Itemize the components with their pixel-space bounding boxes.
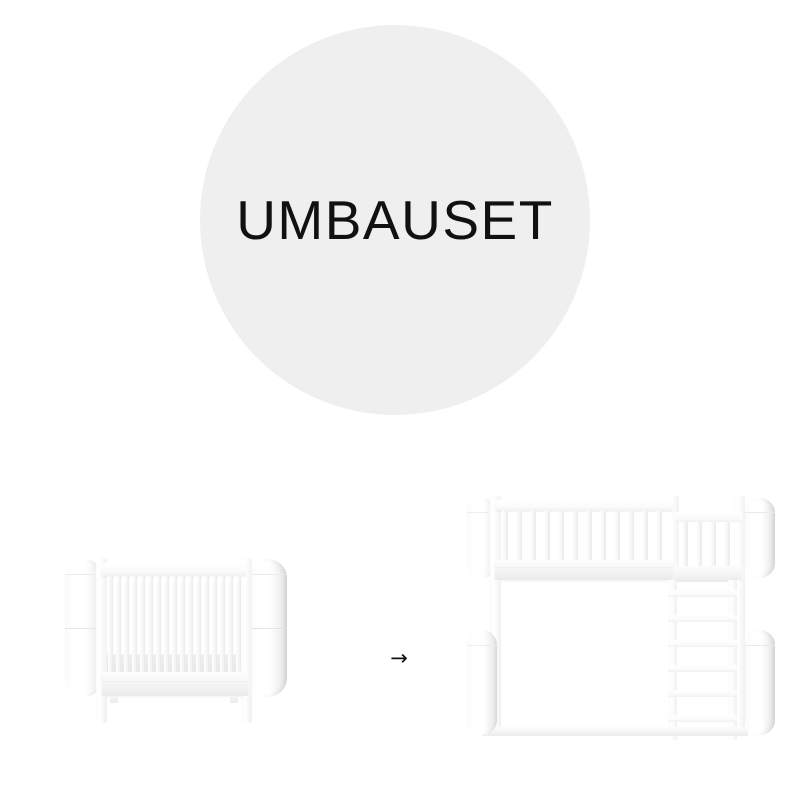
- loft-side-slat: [682, 522, 688, 566]
- loft-guard-slat: [516, 511, 522, 560]
- crib-foot-left: [110, 696, 118, 703]
- crib-slat: [196, 576, 201, 672]
- crib-slat: [236, 576, 241, 672]
- crib-slat: [164, 576, 169, 672]
- loft-right-top-panel-seam: [745, 512, 775, 513]
- product-before-crib: [60, 550, 300, 730]
- crib-top-rail: [101, 563, 246, 576]
- product-conversion-illustration: UMBAUSET: [0, 0, 800, 800]
- crib-slat: [140, 576, 145, 672]
- crib-slat: [148, 576, 153, 672]
- crib-right-panel-top-seam: [249, 574, 287, 575]
- crib-leg-right: [242, 696, 251, 722]
- loft-guard-slat: [530, 511, 536, 560]
- crib-slat: [204, 576, 209, 672]
- loft-deck-band-seam: [495, 567, 673, 568]
- loft-guard-slat: [614, 511, 620, 560]
- loft-ladder-rung: [668, 690, 737, 697]
- crib-slat: [180, 576, 185, 672]
- crib-slat: [228, 576, 233, 672]
- crib-slat: [212, 576, 217, 672]
- crib-slat: [220, 576, 225, 672]
- umbauset-badge: UMBAUSET: [200, 25, 590, 415]
- loft-guard-rail-top-bar: [495, 500, 673, 511]
- loft-side-slat: [710, 522, 716, 566]
- crib-slat: [108, 576, 113, 672]
- loft-left-base-panel-seam: [467, 645, 497, 646]
- loft-ladder-rung: [668, 615, 737, 622]
- crib-foot-right: [230, 696, 238, 703]
- badge-label: UMBAUSET: [236, 193, 554, 248]
- loft-guard-slat: [558, 511, 564, 560]
- crib-slat: [124, 576, 129, 672]
- crib-slat: [156, 576, 161, 672]
- loft-ladder-rung: [668, 665, 737, 672]
- crib-lower-panel-seam: [102, 681, 248, 682]
- loft-guard-slat: [572, 511, 578, 560]
- crib-slat: [172, 576, 177, 672]
- loft-right-top-panel: [745, 498, 775, 578]
- loft-guard-slat: [502, 511, 508, 560]
- loft-guard-slat: [544, 511, 550, 560]
- crib-lower-panel: [102, 672, 248, 696]
- loft-guard-slat: [656, 511, 662, 560]
- loft-side-slat: [696, 522, 702, 566]
- loft-guard-slat: [628, 511, 634, 560]
- loft-deck-band: [495, 560, 673, 580]
- loft-ladder-rung: [668, 590, 737, 597]
- crib-leg-left: [97, 696, 106, 722]
- loft-ladder-rung: [668, 715, 737, 722]
- loft-floor-rail: [482, 727, 748, 736]
- crib-right-panel-seam: [249, 628, 287, 629]
- loft-guard-slat: [642, 511, 648, 560]
- loft-guard-slat: [586, 511, 592, 560]
- loft-guard-slat: [600, 511, 606, 560]
- loft-right-base-panel-seam: [745, 645, 775, 646]
- arrow-right-icon: →: [386, 644, 412, 672]
- product-after-loft-bed: [462, 482, 782, 744]
- crib-slat: [132, 576, 137, 672]
- arrow-right-glyph: →: [390, 648, 408, 669]
- crib-slat: [116, 576, 121, 672]
- crib-slat: [188, 576, 193, 672]
- loft-side-slat: [724, 522, 730, 566]
- loft-side-rail-top-bar: [674, 512, 742, 522]
- loft-ladder-rung: [668, 640, 737, 647]
